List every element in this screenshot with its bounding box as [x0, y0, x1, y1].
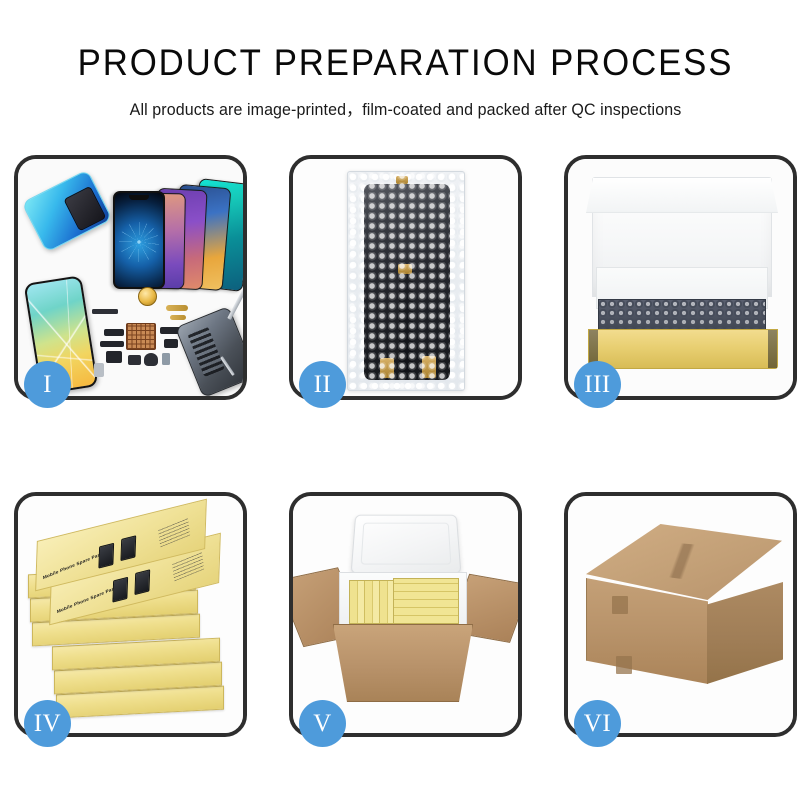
- blue-screen-protector-icon: [21, 169, 112, 252]
- box-product-photo-a1: [98, 543, 114, 569]
- process-step-3: III: [564, 155, 797, 400]
- process-step-4: Mobile Phone Spare Parts Mobile Phone Sp…: [14, 492, 247, 737]
- part-flex-left-1: [104, 329, 124, 336]
- connector-mid: [398, 264, 412, 274]
- product-preparation-infographic: PRODUCT PREPARATION PROCESS All products…: [0, 0, 811, 811]
- process-step-grid: I II: [14, 155, 799, 737]
- retail-box-stack: Mobile Phone Spare Parts Mobile Phone Sp…: [26, 514, 238, 724]
- box-product-photo-b2: [134, 569, 150, 595]
- step-badge-5: V: [299, 700, 346, 747]
- step-badge-6: VI: [574, 700, 621, 747]
- box-spec-lines-a: [158, 516, 190, 547]
- part-flex-gold-1: [166, 305, 188, 311]
- step-4-image: Mobile Phone Spare Parts Mobile Phone Sp…: [18, 496, 243, 733]
- part-flex-left-2: [100, 341, 124, 347]
- gold-coil-icon: [138, 287, 157, 306]
- step-6-image: [568, 496, 793, 733]
- step-badge-3: III: [574, 361, 621, 408]
- flex-cable: [399, 268, 413, 372]
- part-sim-tray: [94, 363, 104, 377]
- foam-box-lid: [351, 515, 462, 574]
- bubble-wrap-bag: [347, 171, 465, 391]
- process-step-1: I: [14, 155, 247, 400]
- kraft-box-base: [588, 329, 778, 369]
- part-flex-gold-2: [170, 315, 186, 320]
- carton-tape-lower: [616, 656, 632, 674]
- part-earpiece-mesh: [92, 309, 118, 314]
- copper-grid-icon: [126, 323, 156, 350]
- step-badge-1: I: [24, 361, 71, 408]
- dark-bubble-wrap-contents: [598, 299, 766, 333]
- packed-retail-boxes-row2: [393, 578, 459, 624]
- box-product-photo-b1: [112, 577, 128, 603]
- phone-dark-front: [113, 191, 165, 289]
- connector-bottom-left: [380, 358, 394, 378]
- part-flex-left-3: [106, 351, 122, 363]
- step-5-image: [293, 496, 518, 733]
- connector-top: [396, 176, 408, 184]
- part-flex-right-2: [164, 339, 178, 348]
- process-step-2: II: [289, 155, 522, 400]
- page-title: PRODUCT PREPARATION PROCESS: [24, 44, 786, 83]
- step-badge-2: II: [299, 361, 346, 408]
- page-subtitle: All products are image-printed，film-coat…: [12, 96, 799, 120]
- process-step-5: V: [289, 492, 522, 737]
- box-label-b: Mobile Phone Spare Parts: [57, 585, 119, 615]
- step-badge-4: IV: [24, 700, 71, 747]
- carton-side-face: [707, 582, 783, 684]
- kraft-box-right-edge: [768, 330, 777, 368]
- part-taptic: [162, 353, 170, 365]
- shipping-carton-open: [333, 624, 473, 702]
- carton-tape-upper: [612, 596, 628, 614]
- header: PRODUCT PREPARATION PROCESS All products…: [0, 44, 811, 120]
- tweezers-icon: [227, 288, 243, 320]
- connector-bottom-right: [422, 356, 436, 378]
- phone-lineup: [104, 169, 243, 289]
- box-label-a: Mobile Phone Spare Parts: [43, 551, 105, 581]
- phone-notch-icon: [129, 195, 149, 200]
- box-product-photo-a2: [120, 535, 136, 561]
- process-step-6: VI: [564, 492, 797, 737]
- part-speaker: [144, 353, 158, 366]
- part-camera-module: [128, 355, 141, 365]
